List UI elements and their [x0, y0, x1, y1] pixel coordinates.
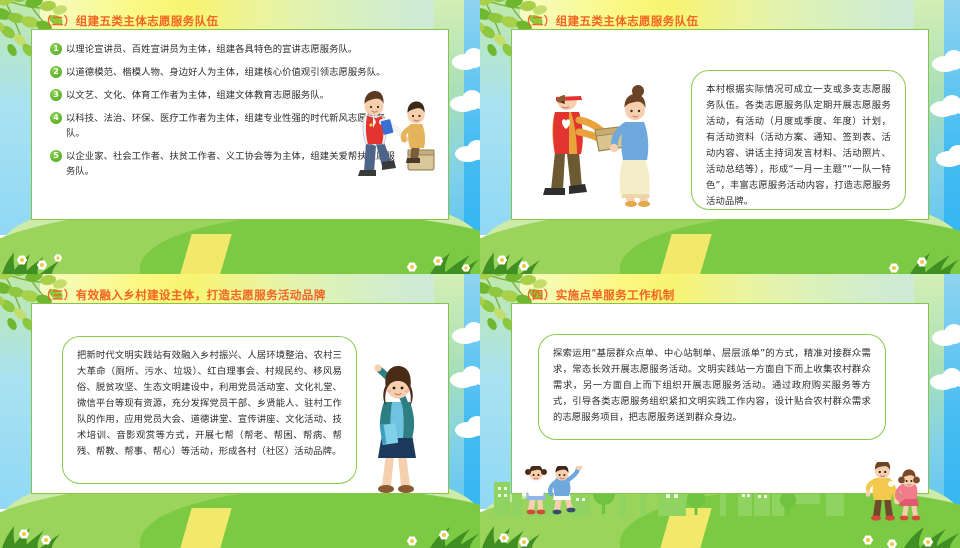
teacher-with-pointer-illustration [358, 358, 438, 506]
children-playing-illustration [522, 466, 584, 522]
volunteer-handing-box-illustration [535, 74, 655, 210]
list-item-text: 以理论宣讲员、百姓宣讲员为主体，组建各具特色的宣讲志愿服务队。 [66, 42, 357, 57]
slide-title: （二）组建五类主体志愿服务队伍 [40, 13, 219, 29]
daisy-flower-icon [0, 248, 480, 274]
slide-2[interactable]: （二）组建五类主体志愿服务队伍 [480, 0, 960, 274]
list-item-text: 以企业家、社会工作者、扶贫工作者、义工协会等为主体，组建关爱帮扶志愿服务队。 [66, 149, 395, 179]
body-text: 把新时代文明实践站有效融入乡村振兴、人居环境整治、农村三大革命（厕所、污水、垃圾… [77, 348, 342, 460]
list-bullet: 1 [50, 43, 62, 55]
slide-4[interactable]: （四）实施点单服务工作机制 探索运用“基层群众点单、中心站制单、层层派单”的方式… [480, 274, 960, 548]
volunteer-man-and-boy-illustration [352, 82, 438, 182]
numbered-list: 1 以理论宣讲员、百姓宣讲员为主体，组建各具特色的宣讲志愿服务队。 2 以道德模… [50, 42, 395, 187]
list-item-text: 以科技、法治、环保、医疗工作者为主体，组建专业性强的时代新风志愿服务队。 [66, 111, 395, 141]
list-item-text: 以文艺、文化、体育工作者为主体，组建文体教育志愿服务队。 [66, 88, 329, 103]
list-item[interactable]: 1 以理论宣讲员、百姓宣讲员为主体，组建各具特色的宣讲志愿服务队。 [50, 42, 395, 57]
list-bullet: 2 [50, 66, 62, 78]
list-bullet: 4 [50, 112, 62, 124]
slide-grid: （二）组建五类主体志愿服务队伍 1 以理论宣讲员、百姓宣讲员为主体，组建各具特色… [0, 0, 960, 548]
list-item-text: 以道德模范、楷模人物、身边好人为主体，组建核心价值观引领志愿服务队。 [66, 65, 386, 80]
sky-gradient-right-edge [464, 0, 480, 235]
daisy-flower-icon [0, 522, 480, 548]
list-bullet: 5 [50, 150, 62, 162]
parent-and-child-illustration [866, 462, 924, 524]
sky-gradient-right-edge [944, 0, 960, 235]
sky-gradient-right-edge [464, 274, 480, 509]
list-item[interactable]: 3 以文艺、文化、体育工作者为主体，组建文体教育志愿服务队。 [50, 88, 395, 103]
list-item[interactable]: 5 以企业家、社会工作者、扶贫工作者、义工协会等为主体，组建关爱帮扶志愿服务队。 [50, 149, 395, 179]
slide-title: （三）有效融入乡村建设主体，打造志愿服务活动品牌 [40, 287, 326, 303]
body-text: 本村根据实际情况可成立一支或多支志愿服务队伍。各类志愿服务队定期开展志愿服务活动… [706, 82, 891, 210]
list-bullet: 3 [50, 89, 62, 101]
slide-3[interactable]: （三）有效融入乡村建设主体，打造志愿服务活动品牌 把新时代文明实践站有效融入乡村… [0, 274, 480, 548]
body-text: 探索运用“基层群众点单、中心站制单、层层派单”的方式，精准对接群众需求，常态长效… [553, 346, 871, 426]
body-text-box: 探索运用“基层群众点单、中心站制单、层层派单”的方式，精准对接群众需求，常态长效… [538, 334, 886, 440]
list-item[interactable]: 4 以科技、法治、环保、医疗工作者为主体，组建专业性强的时代新风志愿服务队。 [50, 111, 395, 141]
slide-1[interactable]: （二）组建五类主体志愿服务队伍 1 以理论宣讲员、百姓宣讲员为主体，组建各具特色… [0, 0, 480, 274]
body-text-box: 把新时代文明实践站有效融入乡村振兴、人居环境整治、农村三大革命（厕所、污水、垃圾… [62, 336, 357, 484]
slide-title: （二）组建五类主体志愿服务队伍 [520, 13, 699, 29]
slide-title: （四）实施点单服务工作机制 [520, 287, 675, 303]
list-item[interactable]: 2 以道德模范、楷模人物、身边好人为主体，组建核心价值观引领志愿服务队。 [50, 65, 395, 80]
daisy-flower-icon [480, 248, 960, 274]
daisy-flower-icon [480, 522, 960, 548]
body-text-box: 本村根据实际情况可成立一支或多支志愿服务队伍。各类志愿服务队定期开展志愿服务活动… [691, 70, 906, 210]
